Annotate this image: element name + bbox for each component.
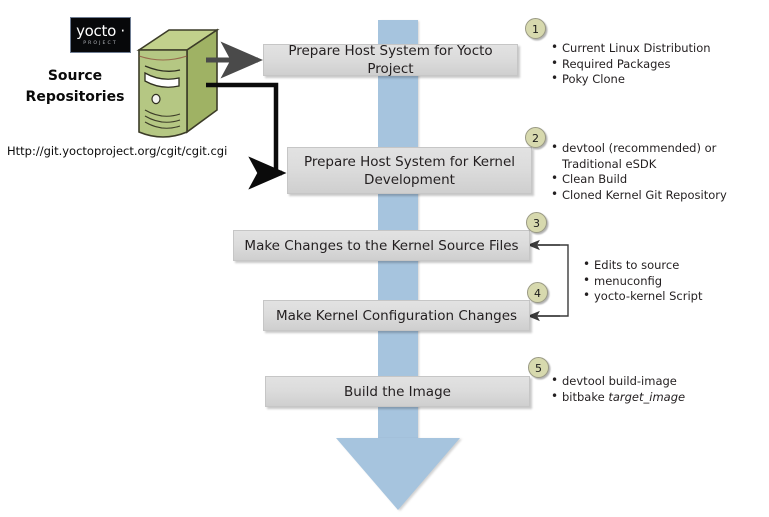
bitbake-command-prefix: bitbake (562, 390, 608, 404)
list-item: bitbake target_image (550, 390, 685, 406)
step-box-4-label: Make Kernel Configuration Changes (276, 307, 517, 325)
steps-3-4-bullets: Edits to source menuconfig yocto-kernel … (582, 258, 703, 305)
source-repositories-label-line1: Source (10, 66, 140, 87)
step-badge-5-number: 5 (535, 362, 542, 375)
step-badge-3: 3 (526, 212, 547, 233)
step-box-5[interactable]: Build the Image (265, 376, 530, 407)
step-box-1[interactable]: Prepare Host System for Yocto Project (263, 44, 518, 76)
source-repositories-label-line2: Repositories (10, 87, 140, 108)
step-box-2-label-line2: Development (364, 171, 455, 189)
step-box-2-label-line1: Prepare Host System for Kernel (304, 153, 515, 171)
step-box-2[interactable]: Prepare Host System for Kernel Developme… (287, 147, 532, 194)
step-badge-3-number: 3 (533, 217, 540, 230)
step-badge-5: 5 (528, 357, 549, 378)
step-badge-1: 1 (525, 18, 546, 39)
step-badge-2-number: 2 (532, 132, 539, 145)
step-5-bullets: devtool build-image bitbake target_image (550, 374, 685, 405)
logo-submark: PROJECT (71, 41, 130, 47)
source-repository-url: Http://git.yoctoproject.org/cgit/cgit.cg… (7, 144, 227, 158)
step-badge-4: 4 (527, 282, 548, 303)
list-item: Clean Build (550, 172, 727, 188)
step-badge-2: 2 (525, 127, 546, 148)
list-item: Edits to source (582, 258, 703, 274)
step-box-5-label: Build the Image (344, 383, 451, 401)
diagram-canvas: yocto · PROJECT Source Repositories Http… (0, 0, 769, 517)
bracket-steps-3-4 (538, 245, 568, 316)
step-box-1-label: Prepare Host System for Yocto Project (272, 42, 509, 78)
list-item: Current Linux Distribution (550, 41, 711, 57)
logo-wordmark: yocto · (71, 24, 130, 39)
server-tower-icon (134, 28, 220, 140)
step-1-bullets: Current Linux Distribution Required Pack… (550, 41, 711, 88)
yocto-project-logo: yocto · PROJECT (70, 17, 131, 53)
step-2-bullets: devtool (recommended) or Traditional eSD… (550, 141, 727, 203)
step-box-3[interactable]: Make Changes to the Kernel Source Files (233, 230, 530, 261)
step-badge-1-number: 1 (532, 23, 539, 36)
list-item: devtool build-image (550, 374, 685, 390)
list-item: Poky Clone (550, 72, 711, 88)
list-item: Cloned Kernel Git Repository (550, 188, 727, 204)
bitbake-target-image-arg: target_image (608, 390, 685, 404)
flow-arrow-head (336, 438, 460, 510)
list-item: devtool (recommended) or Traditional eSD… (550, 141, 722, 172)
list-item: Required Packages (550, 57, 711, 73)
step-box-3-label: Make Changes to the Kernel Source Files (244, 237, 518, 255)
step-box-4[interactable]: Make Kernel Configuration Changes (263, 300, 530, 331)
list-item: yocto-kernel Script (582, 289, 703, 305)
list-item: menuconfig (582, 274, 703, 290)
step-badge-4-number: 4 (534, 287, 541, 300)
